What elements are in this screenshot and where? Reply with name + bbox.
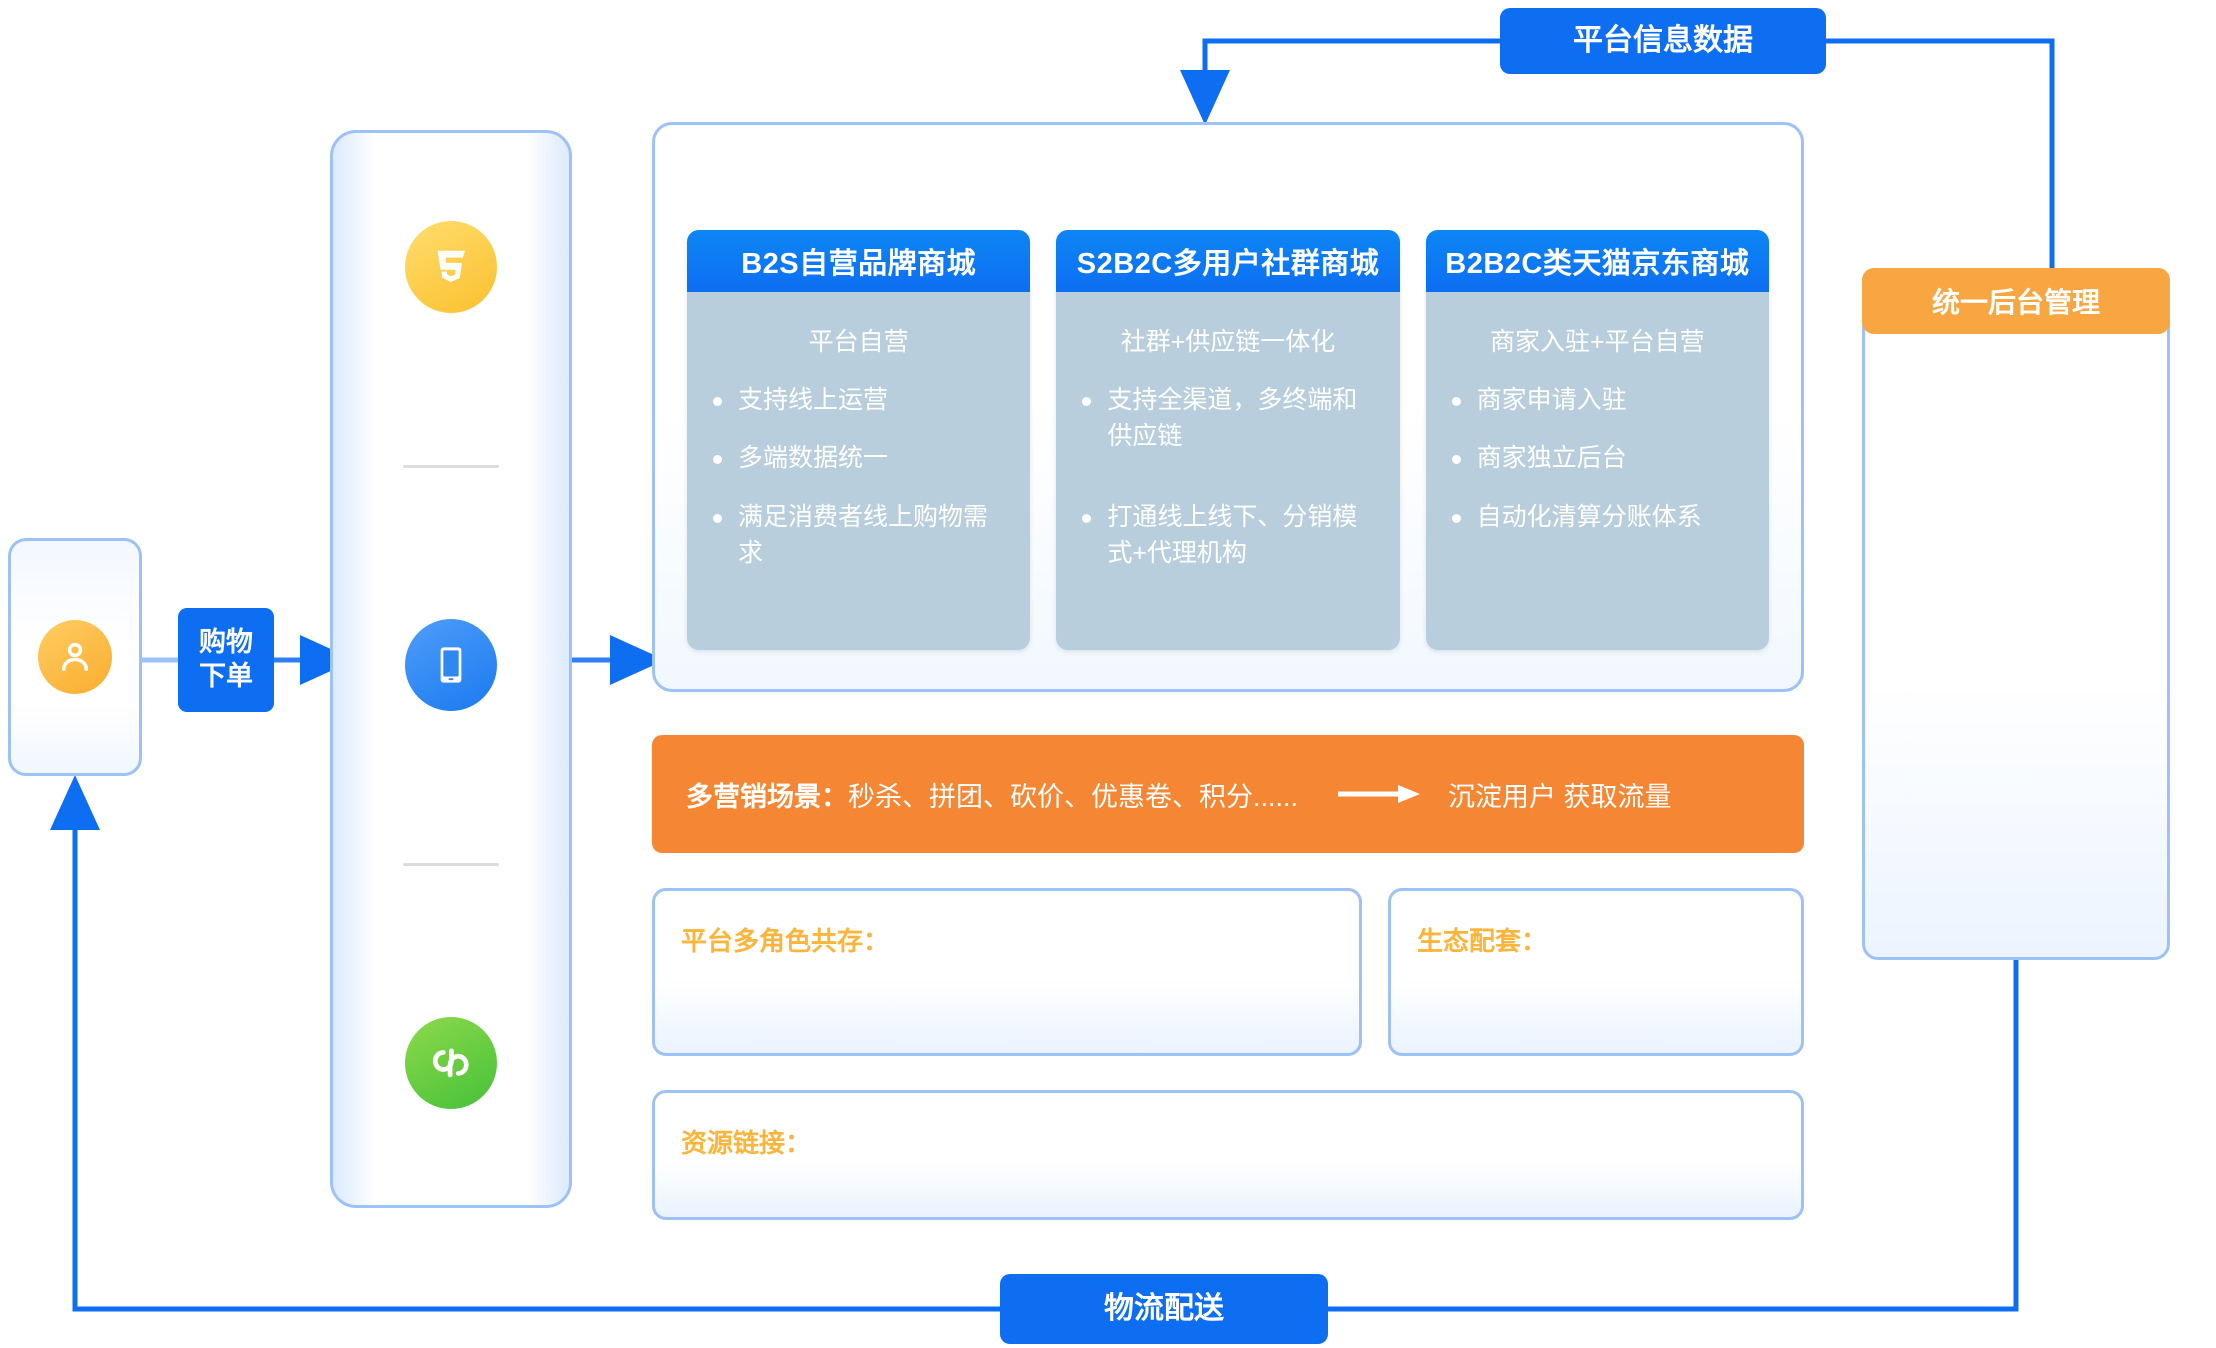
bullet-dot-icon bbox=[1452, 455, 1461, 464]
marketing-label: 多营销场景： bbox=[686, 775, 848, 814]
diagram-canvas: 购物 下单 B2 bbox=[0, 0, 2216, 1348]
mall-card-body: 商家入驻+平台自营 商家申请入驻 商家独立后台 自动化清算分账体系 bbox=[1426, 292, 1769, 650]
device-separator-2 bbox=[403, 863, 499, 866]
mall-card[interactable]: B2B2C类天猫京东商城 商家入驻+平台自营 商家申请入驻 商家独立后台 自动化… bbox=[1426, 230, 1769, 650]
mall-card-bullet-text: 满足消费者线上购物需求 bbox=[738, 499, 1010, 572]
right-arrow-icon bbox=[1336, 782, 1422, 806]
mall-card-subtitle: 社群+供应链一体化 bbox=[1076, 322, 1379, 358]
mall-card-bullet: 支持线上运营 bbox=[707, 382, 1010, 418]
mall-card-bullet-text: 支持线上运营 bbox=[738, 382, 888, 418]
mall-card-title: B2S自营品牌商城 bbox=[687, 230, 1030, 292]
mall-card-bullet: 商家申请入驻 bbox=[1446, 382, 1749, 418]
logistics-tag[interactable]: 物流配送 bbox=[1000, 1274, 1328, 1344]
bullet-dot-icon bbox=[1082, 397, 1091, 406]
bullet-dot-icon bbox=[1452, 514, 1461, 523]
ecosystem-title: 生态配套： bbox=[1417, 921, 1547, 958]
bullet-dot-icon bbox=[713, 455, 722, 464]
shopping-order-tag[interactable]: 购物 下单 bbox=[178, 608, 274, 712]
mall-card-body: 平台自营 支持线上运营 多端数据统一 满足消费者线上购物需求 bbox=[687, 292, 1030, 650]
mall-card[interactable]: S2B2C多用户社群商城 社群+供应链一体化 支持全渠道，多终端和供应链 打通线… bbox=[1056, 230, 1399, 650]
mall-card-bullet: 满足消费者线上购物需求 bbox=[707, 499, 1010, 572]
bullet-dot-icon bbox=[713, 397, 722, 406]
mall-card-bullet: 支持全渠道，多终端和供应链 bbox=[1076, 382, 1379, 455]
html5-icon[interactable] bbox=[405, 221, 497, 313]
mobile-phone-icon[interactable] bbox=[405, 619, 497, 711]
mall-card-bullet-text: 商家申请入驻 bbox=[1477, 382, 1627, 418]
mall-card-subtitle: 平台自营 bbox=[707, 322, 1010, 358]
marketing-items-text: 秒杀、拼团、砍价、优惠卷、积分...... bbox=[848, 775, 1298, 814]
platform-roles-title: 平台多角色共存： bbox=[681, 921, 889, 958]
mall-card-body: 社群+供应链一体化 支持全渠道，多终端和供应链 打通线上线下、分销模式+代理机构 bbox=[1056, 292, 1399, 650]
mall-card-bullet-text: 自动化清算分账体系 bbox=[1477, 499, 1702, 535]
platform-data-tag[interactable]: 平台信息数据 bbox=[1500, 8, 1826, 74]
mall-card-bullet: 自动化清算分账体系 bbox=[1446, 499, 1749, 535]
shopping-order-line-1: 购物 bbox=[199, 626, 253, 660]
mall-card-title: S2B2C多用户社群商城 bbox=[1056, 230, 1399, 292]
mall-card[interactable]: B2S自营品牌商城 平台自营 支持线上运营 多端数据统一 满足消费者线上购物需求 bbox=[687, 230, 1030, 650]
device-separator-1 bbox=[403, 465, 499, 468]
bullet-dot-icon bbox=[713, 514, 722, 523]
marketing-scenarios-bar: 多营销场景： 秒杀、拼团、砍价、优惠卷、积分...... 沉淀用户 获取流量 bbox=[652, 735, 1804, 853]
mall-card-title: B2B2C类天猫京东商城 bbox=[1426, 230, 1769, 292]
marketing-result-text: 沉淀用户 获取流量 bbox=[1448, 775, 1672, 814]
shopping-order-line-2: 下单 bbox=[199, 660, 253, 694]
mall-card-bullet-text: 支持全渠道，多终端和供应链 bbox=[1107, 382, 1379, 455]
mall-card-bullet: 多端数据统一 bbox=[707, 440, 1010, 476]
platform-roles-box: 平台多角色共存： bbox=[652, 888, 1362, 1056]
wechat-miniprogram-icon[interactable] bbox=[405, 1017, 497, 1109]
mall-card-bullet-text: 多端数据统一 bbox=[738, 440, 888, 476]
mall-card-bullet: 打通线上线下、分销模式+代理机构 bbox=[1076, 499, 1379, 572]
bullet-dot-icon bbox=[1082, 514, 1091, 523]
user-avatar-icon bbox=[38, 620, 112, 694]
unified-admin-panel bbox=[1862, 268, 2170, 960]
ecosystem-box: 生态配套： bbox=[1388, 888, 1804, 1056]
bullet-dot-icon bbox=[1452, 397, 1461, 406]
mall-card-bullet-text: 商家独立后台 bbox=[1477, 440, 1627, 476]
mall-card-subtitle: 商家入驻+平台自营 bbox=[1446, 322, 1749, 358]
device-channel-column bbox=[330, 130, 572, 1208]
user-card bbox=[8, 538, 142, 776]
mall-cards-row: B2S自营品牌商城 平台自营 支持线上运营 多端数据统一 满足消费者线上购物需求 bbox=[687, 230, 1769, 650]
mall-card-bullet: 商家独立后台 bbox=[1446, 440, 1749, 476]
mall-card-bullet-text: 打通线上线下、分销模式+代理机构 bbox=[1107, 499, 1379, 572]
resource-link-title: 资源链接： bbox=[681, 1123, 811, 1160]
resource-link-box: 资源链接： bbox=[652, 1090, 1804, 1220]
unified-admin-title: 统一后台管理 bbox=[1862, 268, 2170, 334]
